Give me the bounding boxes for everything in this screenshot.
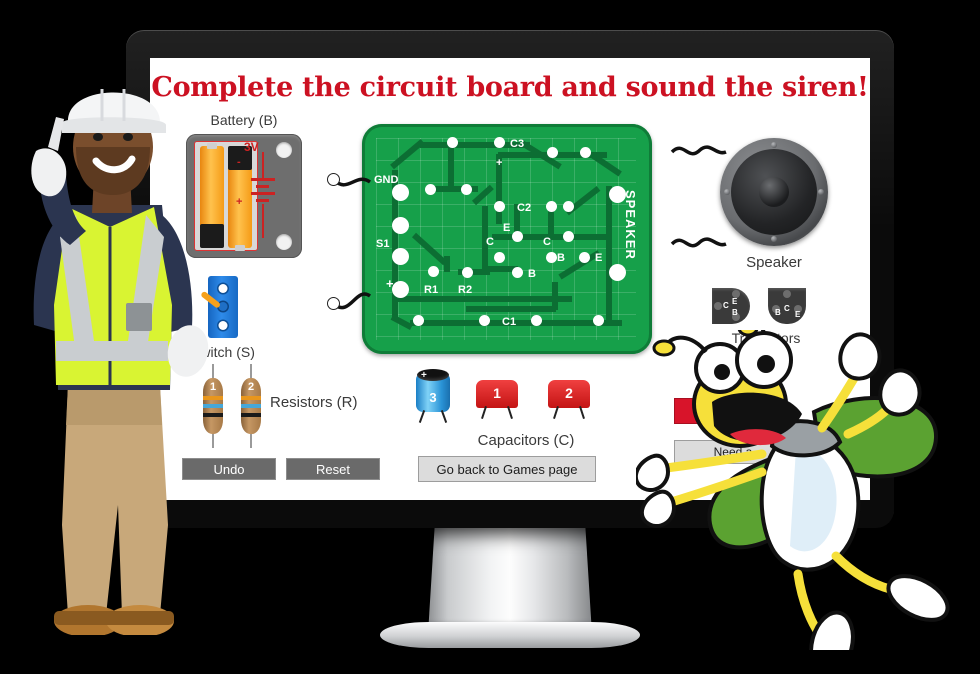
transistor-pin-label-c: C [784, 304, 790, 313]
capacitor-leg [481, 406, 487, 419]
resistor-band [241, 404, 261, 408]
transistor-pin-label-b: B [775, 308, 781, 317]
board-pad-s1-top [392, 217, 409, 234]
capacitor-number: 2 [548, 385, 590, 401]
board-pad-gnd [392, 184, 409, 201]
capacitor-polarity: + [421, 370, 427, 381]
board-pad [546, 252, 557, 263]
resistor-band [241, 413, 261, 417]
board-trace [410, 320, 570, 326]
resistor-2[interactable]: 2 [241, 378, 261, 434]
board-label-r2: R2 [458, 284, 472, 296]
terminal-gnd[interactable] [327, 173, 340, 186]
board-label-c1: C1 [502, 316, 516, 328]
board-label-c3: C3 [510, 138, 524, 150]
board-trace [444, 256, 450, 272]
transistor-1[interactable]: C E B [712, 288, 750, 324]
board-pad [494, 252, 505, 263]
resistor-number: 2 [241, 381, 261, 393]
board-trace [392, 296, 572, 302]
board-trace [562, 320, 622, 326]
board-pad [546, 201, 557, 212]
speaker-screw [724, 189, 730, 195]
speaker-screw [818, 189, 824, 195]
capacitors-label: Capacitors (C) [436, 432, 616, 449]
board-label-plus: + [386, 276, 394, 291]
bug-mascot-character [636, 330, 980, 650]
board-pad [531, 315, 542, 326]
board-trace [466, 306, 556, 312]
board-pad [462, 267, 473, 278]
board-pad [563, 231, 574, 242]
resistor-band [241, 396, 261, 400]
transistor-2[interactable]: B C E [768, 288, 806, 324]
terminal-power[interactable] [327, 297, 340, 310]
battery-schematic-symbol: 3V - + [246, 152, 280, 242]
board-label-c2: C2 [517, 202, 531, 214]
board-label-c-right: C [543, 236, 551, 248]
board-pad [447, 137, 458, 148]
transistor-pin-label-c: C [723, 301, 729, 310]
battery-plus-label: + [236, 196, 242, 208]
speaker-screw [771, 142, 777, 148]
board-label-c-left: C [486, 236, 494, 248]
board-label-b-right: B [557, 252, 565, 264]
resistor-lead [250, 432, 252, 448]
board-label-e-right: E [595, 252, 602, 264]
board-pad [461, 184, 472, 195]
utility-worker-character [10, 55, 225, 635]
screenshot-root: Complete the circuit board and sound the… [0, 0, 980, 674]
go-back-button[interactable]: Go back to Games page [418, 456, 596, 482]
board-pad-speaker-bottom [609, 264, 626, 281]
circuit-board[interactable]: GND S1 + SPEAKER C3 + C2 E C C B E B R1 … [362, 124, 652, 354]
transistor-pin [714, 302, 722, 310]
transistor-pin-label-e: E [795, 310, 800, 319]
board-pad [579, 252, 590, 263]
capacitor-leg [419, 410, 425, 423]
board-trace [498, 152, 574, 158]
battery-voltage-label: 3V [244, 140, 259, 154]
speaker-screw [771, 236, 777, 242]
board-label-e-left: E [503, 222, 510, 234]
board-pad [494, 201, 505, 212]
battery-terminal-nub [235, 245, 245, 251]
board-pad-s1-bottom [392, 248, 409, 265]
capacitor-leg [507, 406, 513, 419]
speaker-component[interactable] [720, 138, 828, 246]
board-pad [593, 315, 604, 326]
board-pad [512, 231, 523, 242]
transistor-pin-label-e: E [732, 297, 737, 306]
board-trace [448, 142, 454, 190]
reset-button[interactable]: Reset [286, 458, 380, 480]
capacitor-1[interactable]: 1 [476, 380, 518, 408]
board-pad-power-plus [392, 281, 409, 298]
board-pad [479, 315, 490, 326]
board-pad [428, 266, 439, 277]
capacitor-2[interactable]: 2 [548, 380, 590, 408]
resistors-label: Resistors (R) [270, 394, 358, 411]
capacitor-3[interactable]: + 3 [416, 374, 450, 412]
board-label-speaker: SPEAKER [623, 190, 638, 260]
board-trace [552, 282, 558, 310]
capacitor-leg [441, 410, 447, 423]
board-label-b-mid: B [528, 268, 536, 280]
transistor-pin [783, 290, 791, 298]
speaker-label: Speaker [720, 254, 828, 271]
board-pad [580, 147, 591, 158]
board-pad [547, 147, 558, 158]
board-trace [606, 250, 612, 322]
board-label-r1: R1 [424, 284, 438, 296]
capacitor-number: 1 [476, 385, 518, 401]
speaker-dome [759, 177, 789, 207]
board-pad [425, 184, 436, 195]
board-label-c3-plus: + [496, 157, 502, 169]
board-label-s1: S1 [376, 238, 389, 250]
monitor-stand-base [380, 622, 640, 648]
transistor-pin-label-b: B [732, 308, 738, 317]
board-pad [563, 201, 574, 212]
capacitor-leg [579, 406, 585, 419]
board-pad [413, 315, 424, 326]
board-pad [512, 267, 523, 278]
page-title: Complete the circuit board and sound the… [150, 72, 870, 103]
battery-minus-label: - [237, 156, 241, 168]
monitor-stand-neck [428, 528, 592, 634]
board-pad [494, 137, 505, 148]
capacitor-leg [553, 406, 559, 419]
capacitor-number: 3 [416, 390, 450, 405]
